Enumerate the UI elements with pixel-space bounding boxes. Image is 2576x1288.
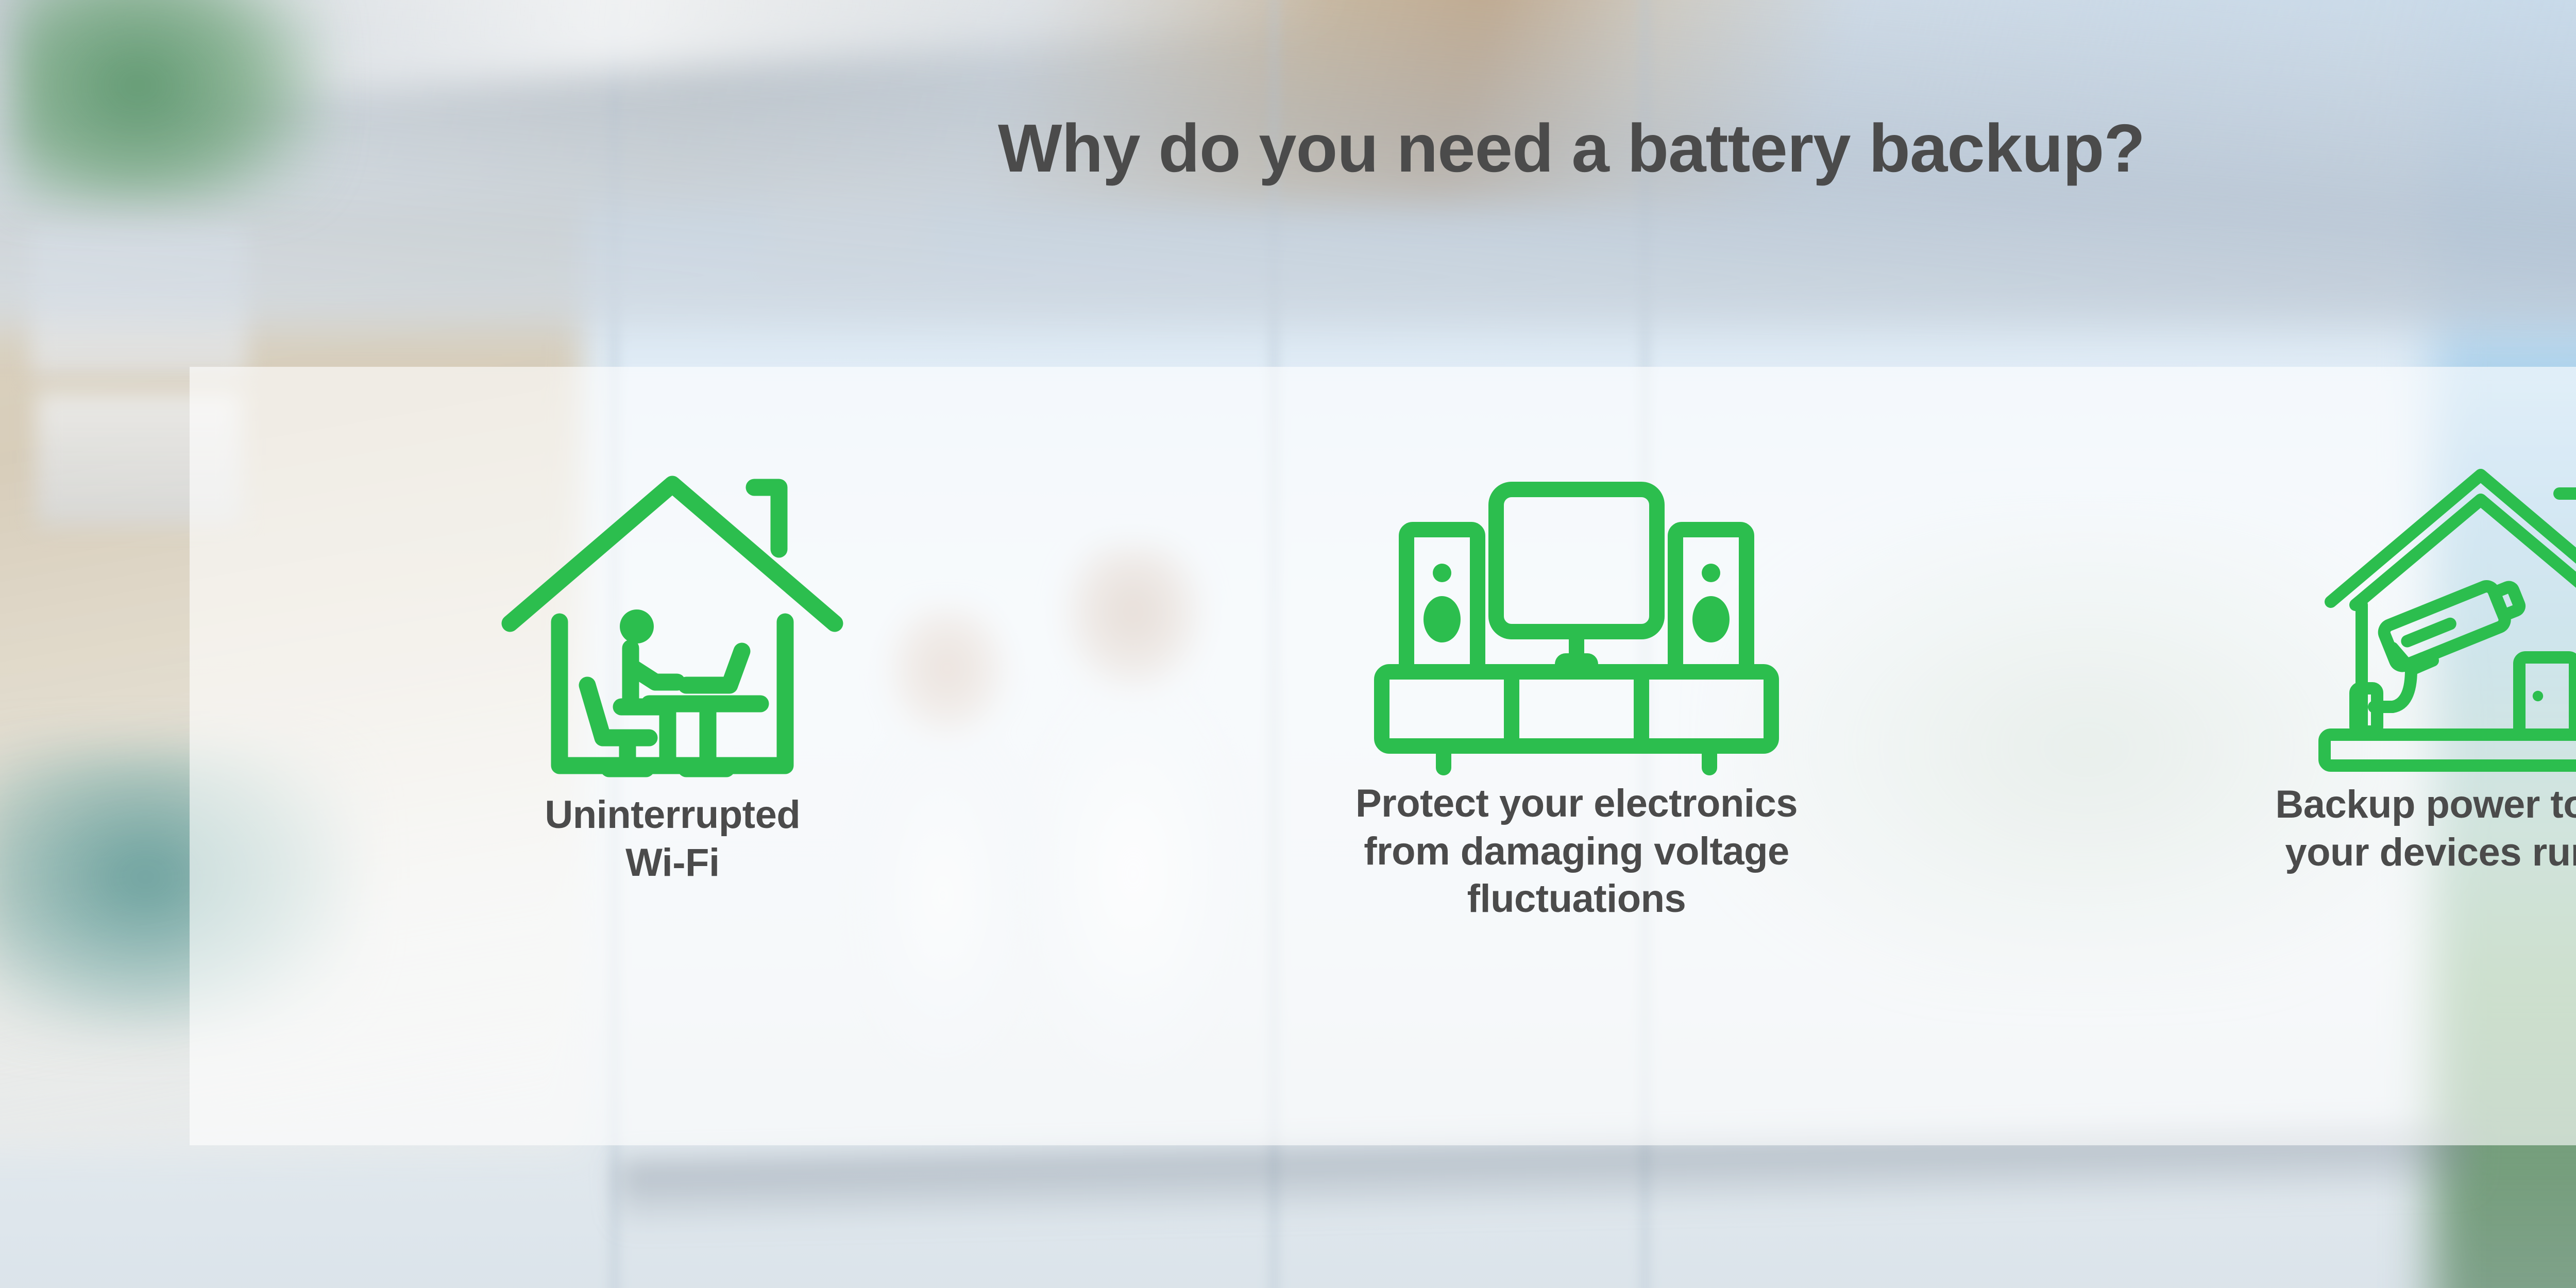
house-home-office-icon xyxy=(495,459,850,788)
feature-caption: Uninterrupted Wi-Fi xyxy=(545,791,800,887)
feature-item-backup-power: Backup power to keep your devices runnin… xyxy=(2028,367,2576,876)
feature-item-electronics: Protect your electronics from damaging v… xyxy=(1125,367,2029,923)
feature-caption: Protect your electronics from damaging v… xyxy=(1355,780,1798,923)
battery-backup-banner: Why do you need a battery backup? xyxy=(0,0,2576,1288)
feature-item-wifi: Uninterrupted Wi-Fi xyxy=(190,367,1125,887)
feature-panel: Uninterrupted Wi-Fi xyxy=(190,367,2576,1145)
house-security-camera-icon xyxy=(2303,460,2576,778)
page-title: Why do you need a battery backup? xyxy=(0,109,2576,187)
feature-caption: Backup power to keep your devices runnin… xyxy=(2275,781,2576,876)
tv-entertainment-system-icon xyxy=(1360,468,1793,777)
